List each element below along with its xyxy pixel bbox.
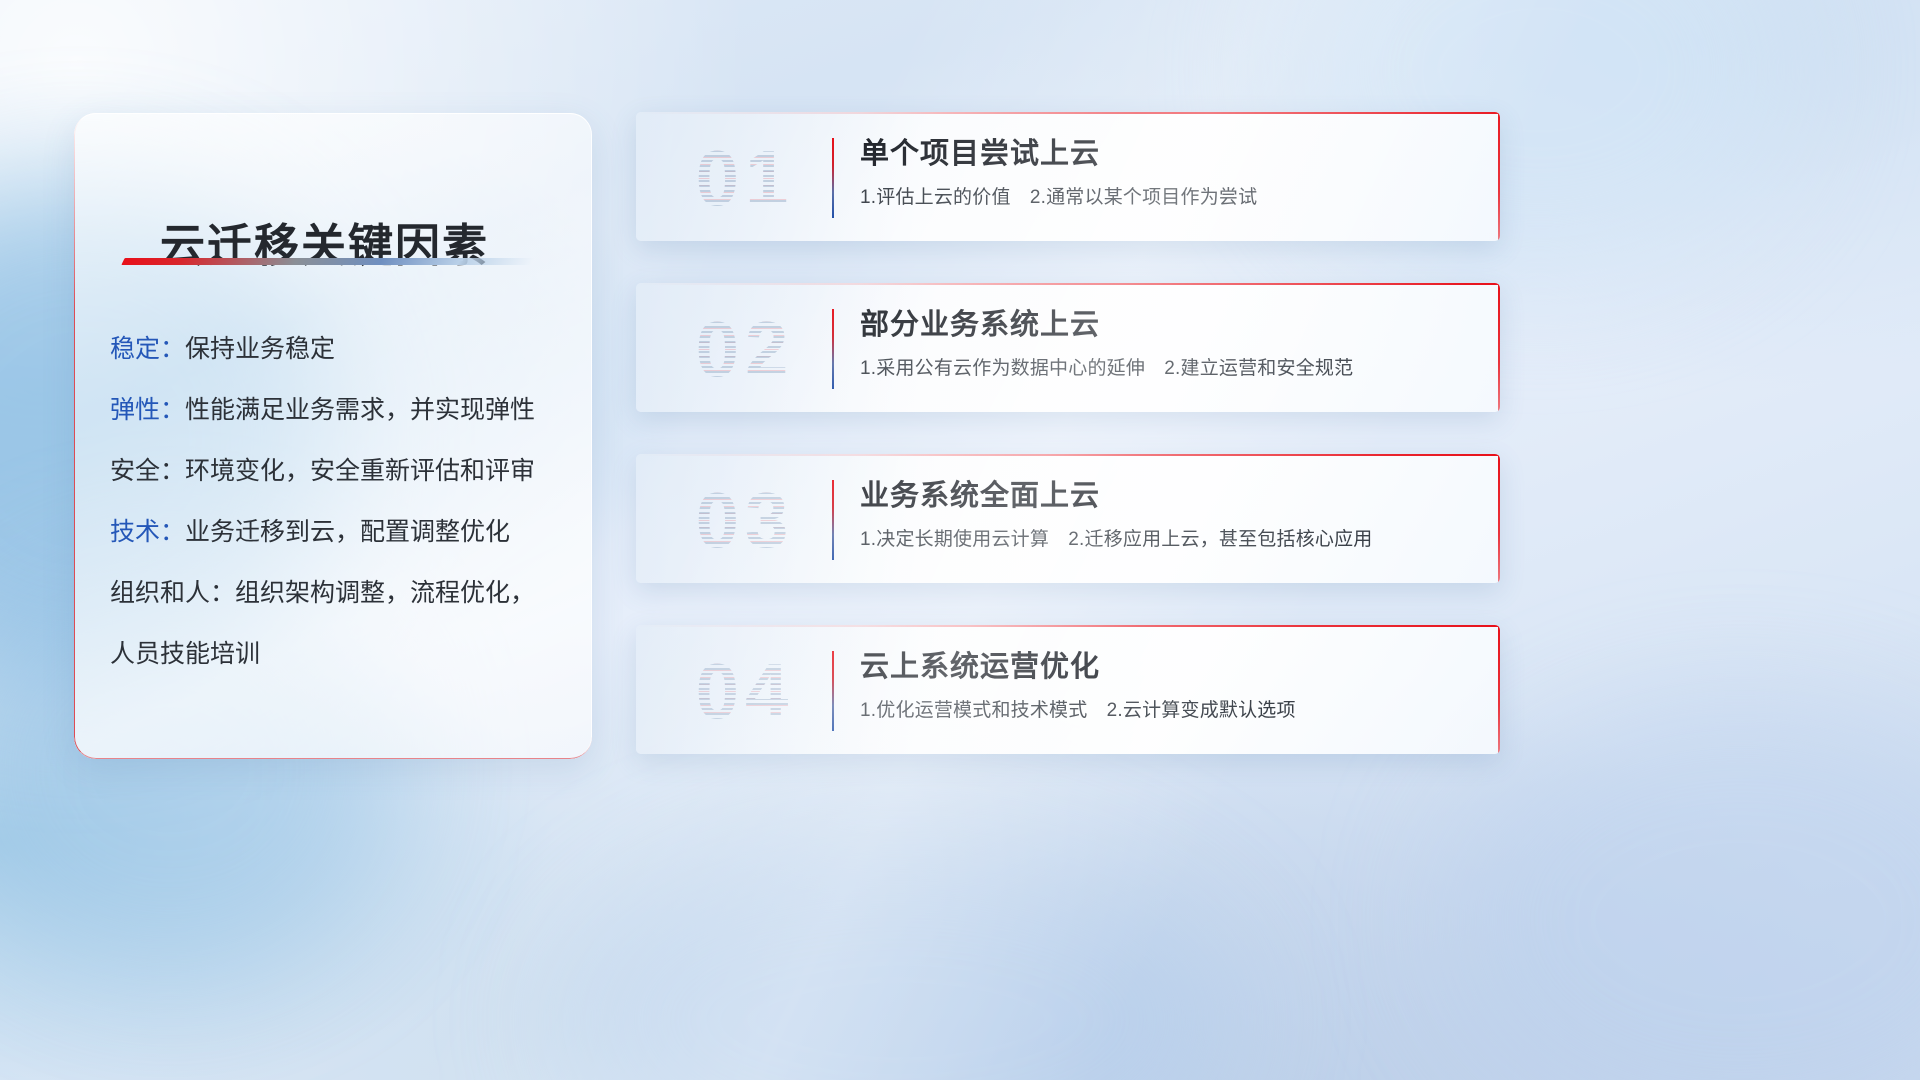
- stage-card[interactable]: 04 04 云上系统运营优化 1.优化运营模式和技术模式 2.云计算变成默认选项: [636, 625, 1500, 754]
- factor-label: 技术：: [110, 518, 185, 546]
- factor-value: 环境变化，安全重新评估和评审: [185, 457, 535, 485]
- card-divider: [832, 480, 834, 560]
- slide-canvas: 云迁移关键因素 稳定：保持业务稳定 弹性：性能满足业务需求，并实现弹性 安全：环…: [0, 0, 1920, 1080]
- card-description: 1.评估上云的价值 2.通常以某个项目作为尝试: [860, 184, 1476, 212]
- factor-item: 稳定：保持业务稳定: [110, 319, 568, 380]
- stage-number: 02: [660, 301, 830, 397]
- card-body: 业务系统全面上云 1.决定长期使用云计算 2.迁移应用上云，甚至包括核心应用: [860, 476, 1476, 554]
- factor-item: 弹性：性能满足业务需求，并实现弹性: [110, 380, 568, 441]
- card-body: 单个项目尝试上云 1.评估上云的价值 2.通常以某个项目作为尝试: [860, 134, 1476, 212]
- factor-label: 安全：: [110, 457, 185, 485]
- card-description: 1.采用公有云作为数据中心的延伸 2.建立运营和安全规范: [860, 355, 1476, 383]
- factor-item-continuation: 人员技能培训: [110, 624, 568, 685]
- background-blob: [1440, 700, 1920, 1080]
- factor-item: 安全：环境变化，安全重新评估和评审: [110, 441, 568, 502]
- card-body: 云上系统运营优化 1.优化运营模式和技术模式 2.云计算变成默认选项: [860, 647, 1476, 725]
- card-title: 云上系统运营优化: [860, 647, 1476, 687]
- factor-label: 组织和人：: [110, 579, 235, 607]
- stage-number: 03: [660, 472, 830, 568]
- factor-value: 人员技能培训: [110, 640, 260, 668]
- factor-value: 保持业务稳定: [185, 335, 335, 363]
- title-underline-accent: [121, 258, 534, 265]
- factor-list: 稳定：保持业务稳定 弹性：性能满足业务需求，并实现弹性 安全：环境变化，安全重新…: [110, 319, 568, 685]
- factor-value: 组织架构调整，流程优化，: [235, 579, 535, 607]
- stage-number: 04: [660, 643, 830, 739]
- stage-card-list: 01 01 单个项目尝试上云 1.评估上云的价值 2.通常以某个项目作为尝试 0…: [636, 112, 1500, 796]
- factor-item: 技术：业务迁移到云，配置调整优化: [110, 502, 568, 563]
- factor-label: 弹性：: [110, 396, 185, 424]
- stage-card[interactable]: 02 02 部分业务系统上云 1.采用公有云作为数据中心的延伸 2.建立运营和安…: [636, 283, 1500, 412]
- factor-item: 组织和人：组织架构调整，流程优化，: [110, 563, 568, 624]
- stage-number: 01: [660, 130, 830, 226]
- card-description: 1.决定长期使用云计算 2.迁移应用上云，甚至包括核心应用: [860, 526, 1476, 554]
- card-title: 单个项目尝试上云: [860, 134, 1476, 174]
- factor-label: 稳定：: [110, 335, 185, 363]
- card-description: 1.优化运营模式和技术模式 2.云计算变成默认选项: [860, 697, 1476, 725]
- stage-card[interactable]: 01 01 单个项目尝试上云 1.评估上云的价值 2.通常以某个项目作为尝试: [636, 112, 1500, 241]
- key-factors-panel: 云迁移关键因素 稳定：保持业务稳定 弹性：性能满足业务需求，并实现弹性 安全：环…: [74, 113, 592, 759]
- card-title: 部分业务系统上云: [860, 305, 1476, 345]
- card-body: 部分业务系统上云 1.采用公有云作为数据中心的延伸 2.建立运营和安全规范: [860, 305, 1476, 383]
- factor-value: 业务迁移到云，配置调整优化: [185, 518, 510, 546]
- card-title: 业务系统全面上云: [860, 476, 1476, 516]
- background-blob: [560, 840, 1240, 1080]
- card-divider: [832, 309, 834, 389]
- factor-value: 性能满足业务需求，并实现弹性: [185, 396, 535, 424]
- stage-card[interactable]: 03 03 业务系统全面上云 1.决定长期使用云计算 2.迁移应用上云，甚至包括…: [636, 454, 1500, 583]
- card-divider: [832, 651, 834, 731]
- card-divider: [832, 138, 834, 218]
